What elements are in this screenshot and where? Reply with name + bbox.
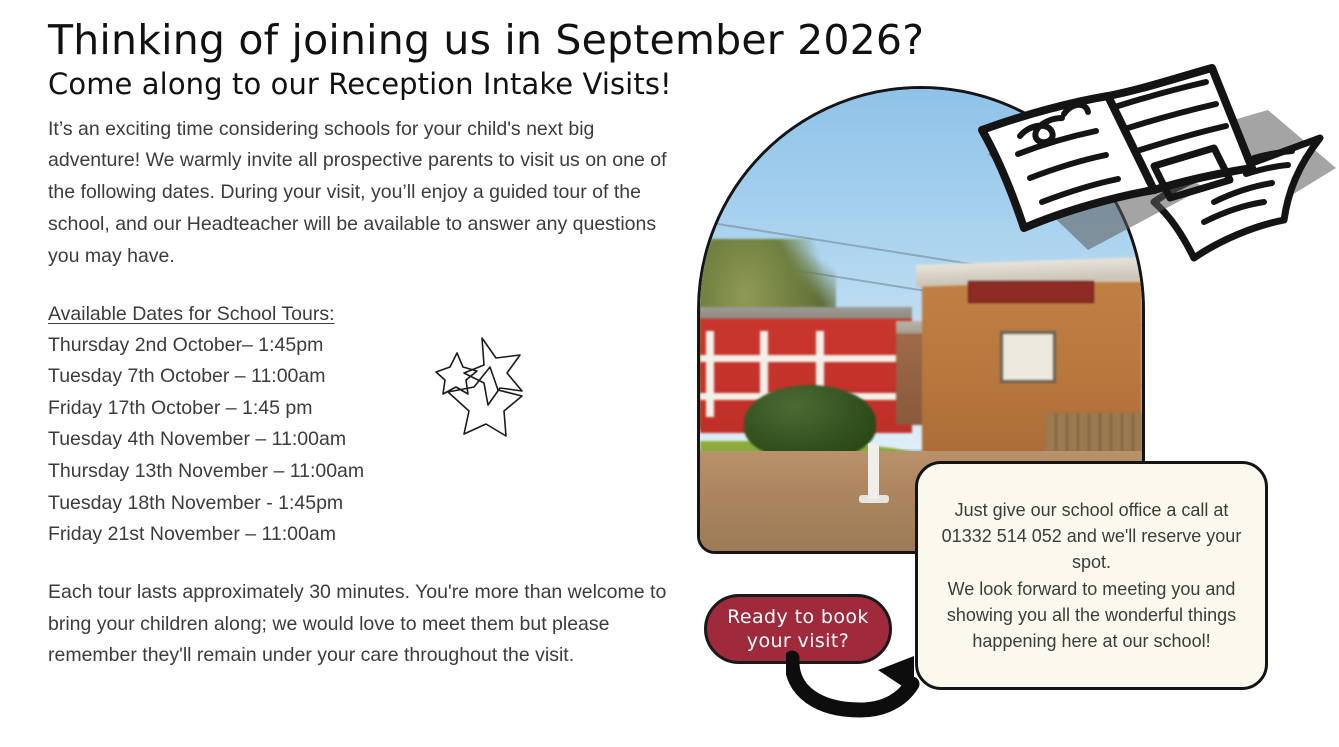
callout-text: Just give our school office a call at 01… [940,497,1243,654]
page-title: Thinking of joining us in September 2026… [48,18,688,62]
list-item: Tuesday 7th October – 11:00am [48,361,688,393]
list-item: Tuesday 18th November - 1:45pm [48,488,688,520]
page-subtitle: Come along to our Reception Intake Visit… [48,68,688,101]
list-item: Thursday 13th November – 11:00am [48,456,688,488]
phone-callout-bubble: Just give our school office a call at 01… [915,461,1268,690]
intro-paragraph: It’s an exciting time considering school… [48,114,668,273]
cta-line-1: Ready to book [727,605,869,629]
dates-list: Available Dates for School Tours: Thursd… [48,299,688,551]
curved-arrow-icon [786,648,934,732]
list-item: Thursday 2nd October– 1:45pm [48,330,688,362]
list-item: Friday 21st November – 11:00am [48,519,688,551]
list-item: Friday 17th October – 1:45 pm [48,393,688,425]
stars-icon [412,326,542,441]
list-item: Tuesday 4th November – 11:00am [48,424,688,456]
text-column: Thinking of joining us in September 2026… [48,18,688,692]
poster-canvas: Thinking of joining us in September 2026… [0,0,1339,747]
open-books-icon [968,62,1339,288]
outro-paragraph: Each tour lasts approximately 30 minutes… [48,577,673,672]
dates-heading: Available Dates for School Tours: [48,299,688,330]
